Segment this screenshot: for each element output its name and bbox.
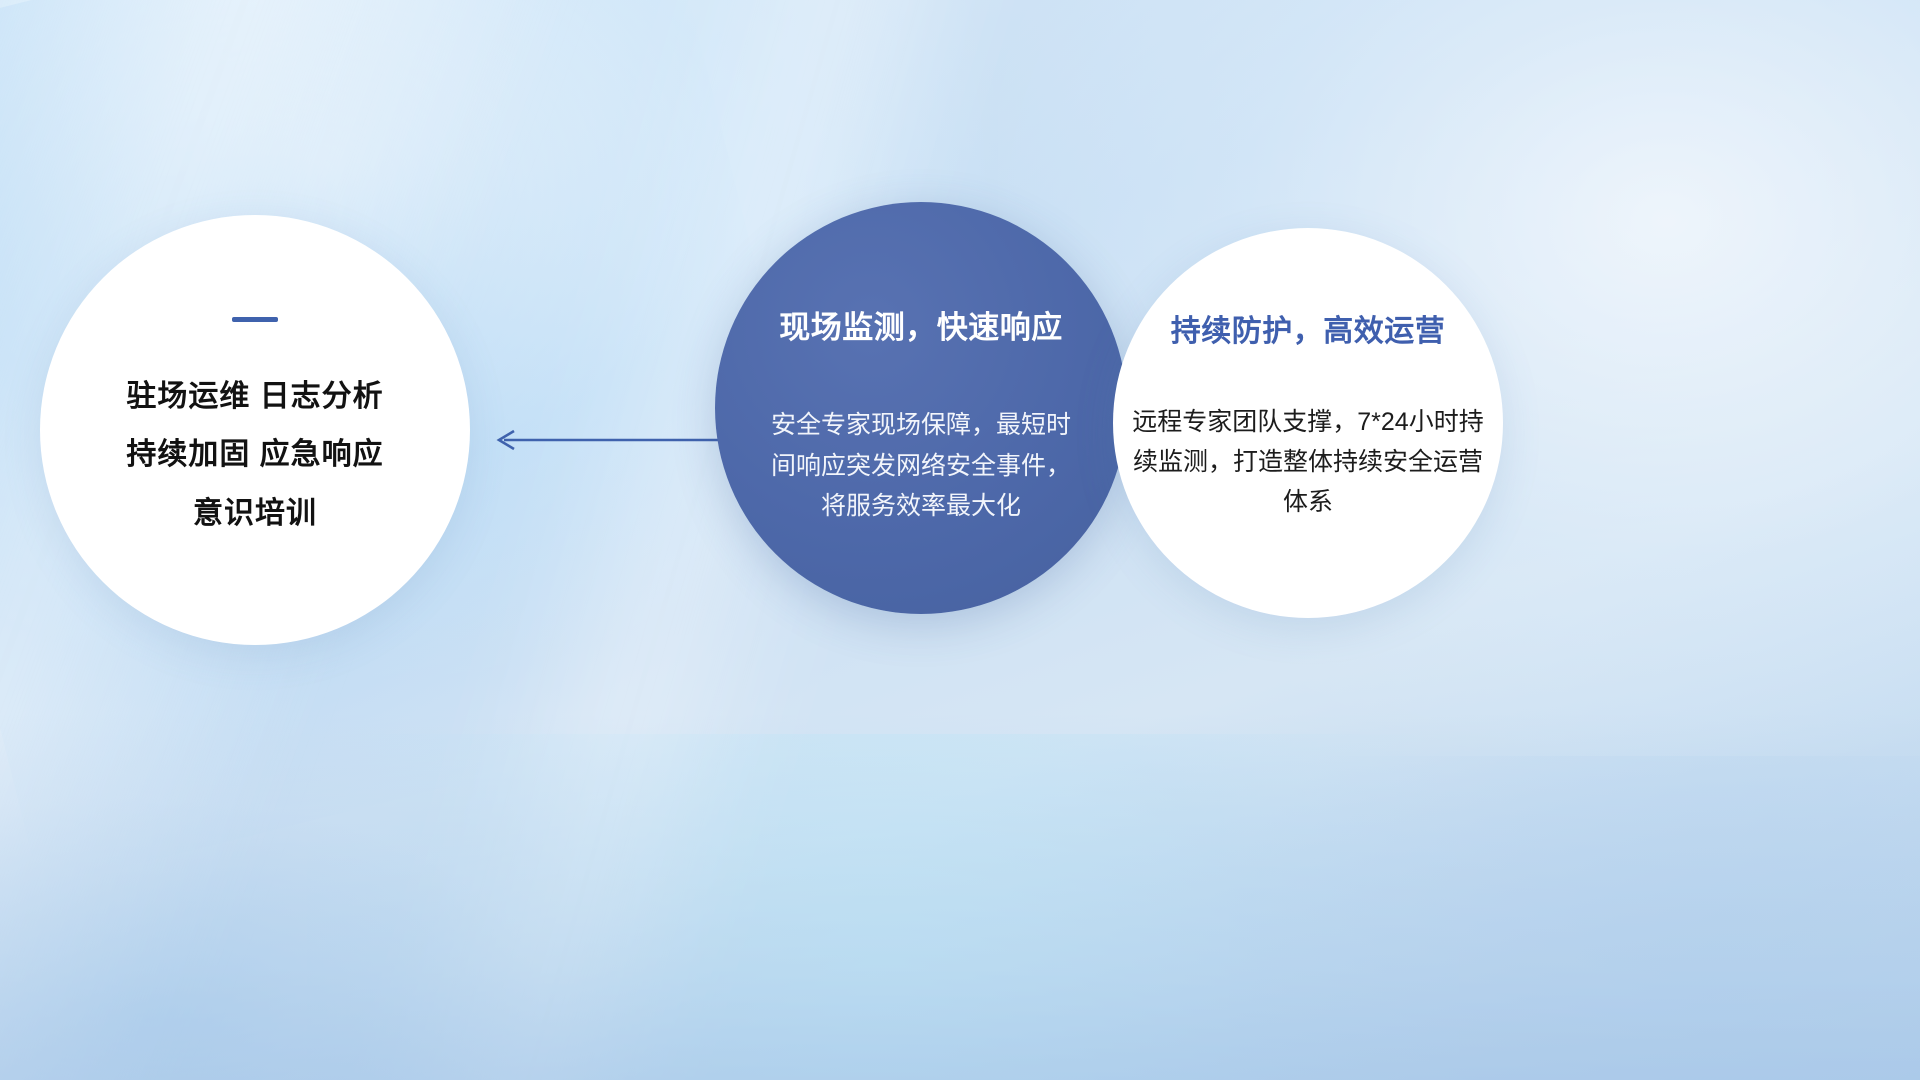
- continuous-protection-circle: 持续防护，高效运营 远程专家团队支撑，7*24小时持续监测，打造整体持续安全运营…: [1113, 228, 1503, 618]
- onsite-monitoring-body: 安全专家现场保障，最短时间响应突发网络安全事件，将服务效率最大化: [766, 405, 1076, 527]
- onsite-monitoring-circle: 现场监测，快速响应 安全专家现场保障，最短时间响应突发网络安全事件，将服务效率最…: [715, 202, 1127, 614]
- onsite-monitoring-title: 现场监测，快速响应: [779, 302, 1063, 347]
- left-circle-line-1: 驻场运维 日志分析: [126, 368, 383, 427]
- continuous-protection-title: 持续防护，高效运营: [1171, 306, 1446, 350]
- background-bottom-shade: [0, 713, 1920, 1080]
- horizontal-dash-icon: [232, 317, 278, 322]
- left-circle-line-2: 持续加固 应急响应: [126, 426, 383, 485]
- left-arrow-icon: [490, 420, 735, 460]
- continuous-protection-body: 远程专家团队支撑，7*24小时持续监测，打造整体持续安全运营体系: [1128, 402, 1488, 522]
- left-circle-line-3: 意识培训: [193, 485, 317, 544]
- left-service-circle: 驻场运维 日志分析 持续加固 应急响应 意识培训: [40, 215, 470, 645]
